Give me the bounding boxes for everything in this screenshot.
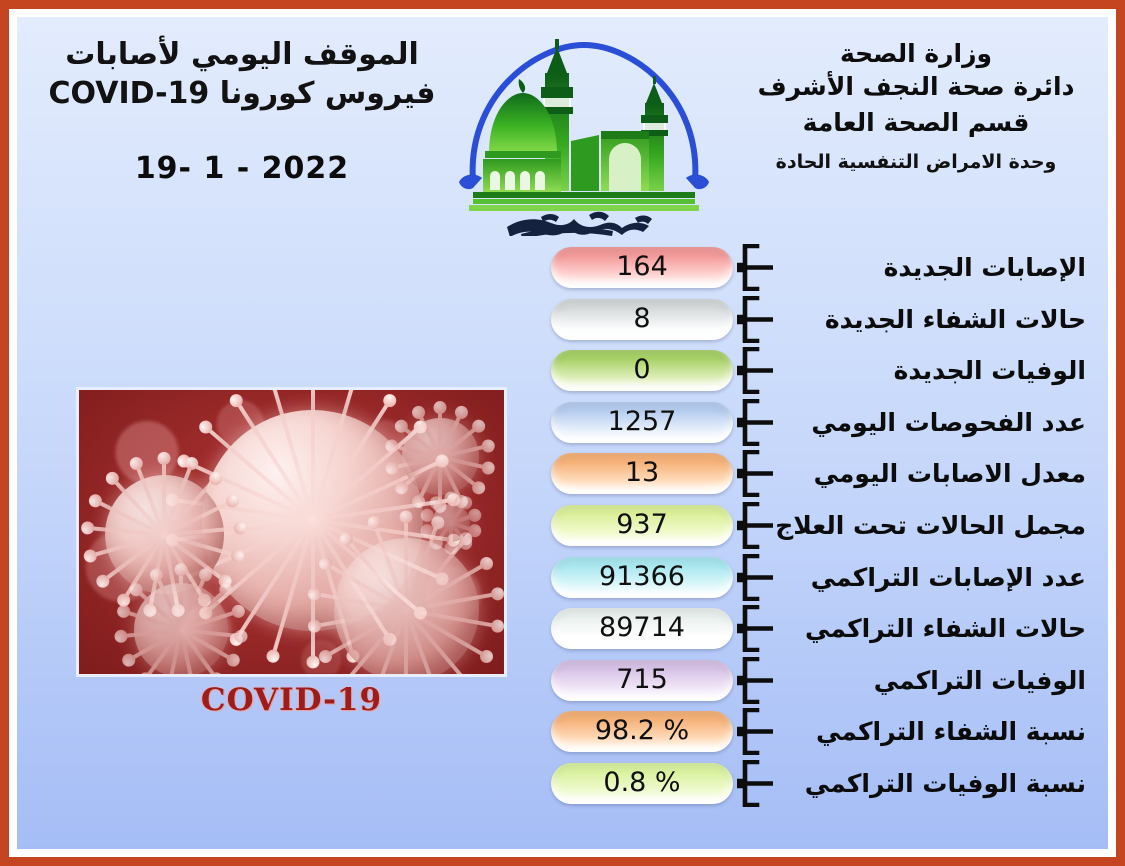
stat-value: 98.2 % [595, 717, 689, 744]
stat-row: 0الوفيات الجديدة [17, 350, 1108, 394]
stat-value: 8 [633, 305, 650, 332]
stat-value: 937 [616, 511, 668, 538]
report-title-block: الموقف اليومي لأصابات فيروس كورونا COVID… [47, 35, 437, 186]
stat-label: عدد الفحوصات اليومي [811, 402, 1086, 443]
stat-value: 0 [633, 356, 650, 383]
stat-value-pill: 98.2 % [551, 711, 733, 752]
poster-root: الموقف اليومي لأصابات فيروس كورونا COVID… [0, 0, 1125, 866]
mosque-portico [571, 131, 649, 191]
stats-list: 164الإصابات الجديدة8حالات الشفاء الجديدة… [17, 245, 1108, 825]
report-title-line-2: فيروس كورونا COVID-19 [47, 74, 437, 113]
stat-row: 0.8 %نسبة الوفيات التراكمي [17, 763, 1108, 807]
stat-row: 164الإصابات الجديدة [17, 247, 1108, 291]
stat-row: 715الوفيات التراكمي [17, 660, 1108, 704]
stat-label: نسبة الشفاء التراكمي [816, 711, 1086, 752]
ministry-block: وزارة الصحة دائرة صحة النجف الأشرف قسم ا… [746, 39, 1086, 173]
stat-label: عدد الإصابات التراكمي [811, 557, 1086, 598]
stat-label: نسبة الوفيات التراكمي [805, 763, 1086, 804]
report-title-line-1: الموقف اليومي لأصابات [47, 35, 437, 74]
mosque-facade [483, 159, 561, 192]
stat-value: 89714 [599, 614, 685, 641]
curly-brace-icon [737, 450, 773, 497]
curly-brace-icon [737, 657, 773, 704]
stat-value: 715 [616, 666, 668, 693]
ministry-line-2: دائرة صحة النجف الأشرف [746, 72, 1086, 103]
stat-label: معدل الاصابات اليومي [814, 453, 1086, 494]
stat-value-pill: 8 [551, 299, 733, 340]
stat-value-pill: 164 [551, 247, 733, 288]
curly-brace-icon [737, 399, 773, 446]
report-date: 19- 1 - 2022 [47, 151, 437, 186]
stat-row: 13معدل الاصابات اليومي [17, 453, 1108, 497]
najaf-governorate-logo [449, 31, 719, 236]
stat-label: مجمل الحالات تحت العلاج [775, 505, 1086, 546]
stat-label: الإصابات الجديدة [884, 247, 1086, 288]
stat-value-pill: 0.8 % [551, 763, 733, 804]
ministry-line-1: وزارة الصحة [746, 39, 1086, 70]
stat-value-pill: 937 [551, 505, 733, 546]
stat-value: 91366 [599, 563, 685, 590]
stat-value-pill: 715 [551, 660, 733, 701]
curly-brace-icon [737, 760, 773, 807]
curly-brace-icon [737, 296, 773, 343]
stat-label: الوفيات الجديدة [894, 350, 1086, 391]
stat-row: 1257عدد الفحوصات اليومي [17, 402, 1108, 446]
stat-value-pill: 1257 [551, 402, 733, 443]
stat-label: حالات الشفاء الجديدة [825, 299, 1086, 340]
stat-row: 91366عدد الإصابات التراكمي [17, 557, 1108, 601]
stat-value-pill: 89714 [551, 608, 733, 649]
stat-row: 98.2 %نسبة الشفاء التراكمي [17, 711, 1108, 755]
stat-value-pill: 91366 [551, 557, 733, 598]
curly-brace-icon [737, 708, 773, 755]
curly-brace-icon [737, 502, 773, 549]
mosque-plinth [469, 192, 699, 211]
poster-canvas: الموقف اليومي لأصابات فيروس كورونا COVID… [14, 14, 1111, 852]
stat-row: 89714حالات الشفاء التراكمي [17, 608, 1108, 652]
stat-row: 8حالات الشفاء الجديدة [17, 299, 1108, 343]
curly-brace-icon [737, 605, 773, 652]
stat-value: 1257 [608, 408, 677, 435]
logo-calligraphy [507, 212, 652, 236]
curly-brace-icon [737, 554, 773, 601]
stat-value: 0.8 % [603, 769, 680, 796]
stat-label: الوفيات التراكمي [874, 660, 1086, 701]
stat-value: 164 [616, 253, 668, 280]
stat-row: 937مجمل الحالات تحت العلاج [17, 505, 1108, 549]
curly-brace-icon [737, 244, 773, 291]
header: الموقف اليومي لأصابات فيروس كورونا COVID… [17, 17, 1108, 239]
curly-brace-icon [737, 347, 773, 394]
ministry-line-3: قسم الصحة العامة [746, 108, 1086, 139]
stat-value-pill: 13 [551, 453, 733, 494]
stat-value-pill: 0 [551, 350, 733, 391]
ministry-line-4: وحدة الامراض التنفسية الحادة [746, 151, 1086, 173]
stat-label: حالات الشفاء التراكمي [805, 608, 1086, 649]
stat-value: 13 [625, 459, 659, 486]
